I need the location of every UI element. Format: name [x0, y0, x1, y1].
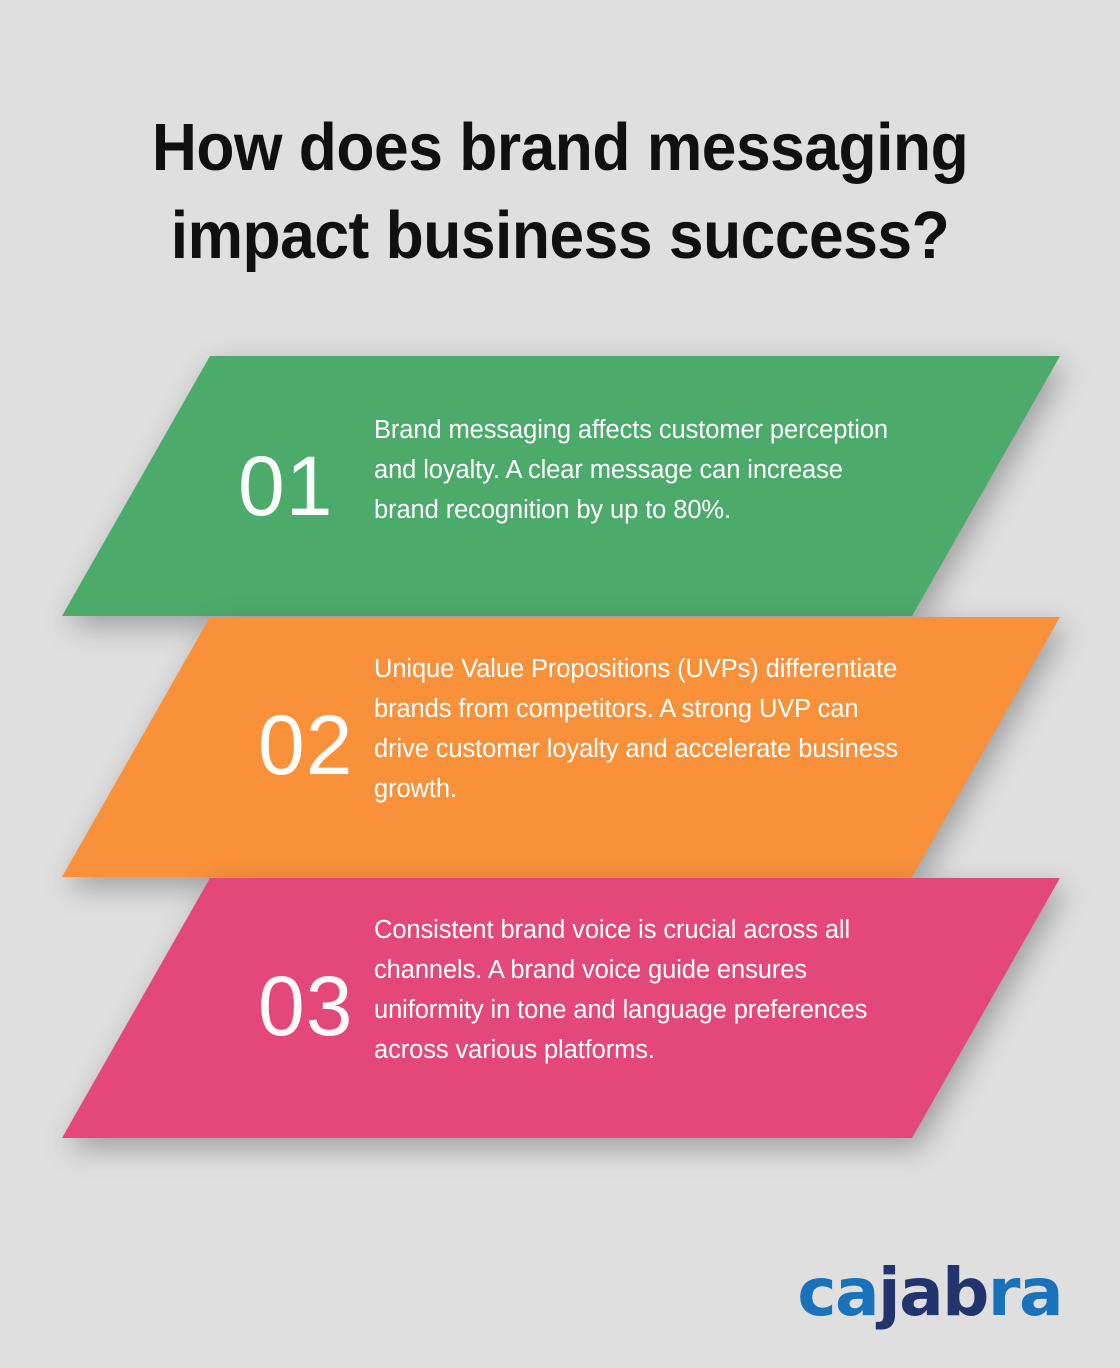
band-content-03: 03 Consistent brand voice is crucial acr… [0, 878, 1120, 1140]
item-text-02: Unique Value Propositions (UVPs) differe… [374, 649, 904, 809]
band-list: 01 Brand messaging affects customer perc… [0, 0, 1120, 1368]
infographic-canvas: How does brand messaging impact business… [0, 0, 1120, 1368]
logo-part-1: ca [797, 1254, 878, 1331]
band-content-01: 01 Brand messaging affects customer perc… [0, 356, 1120, 618]
logo-part-2: jab [878, 1254, 988, 1331]
item-number-02: 02 [258, 703, 353, 787]
list-item-01: 01 Brand messaging affects customer perc… [0, 356, 1120, 618]
item-number-01: 01 [238, 444, 333, 528]
band-content-02: 02 Unique Value Propositions (UVPs) diff… [0, 617, 1120, 879]
list-item-02: 02 Unique Value Propositions (UVPs) diff… [0, 617, 1120, 879]
item-number-03: 03 [258, 964, 353, 1048]
logo-part-3: ra [988, 1254, 1062, 1331]
list-item-03: 03 Consistent brand voice is crucial acr… [0, 878, 1120, 1140]
cajabra-logo: cajabra [797, 1258, 1062, 1328]
item-text-03: Consistent brand voice is crucial across… [374, 910, 904, 1070]
item-text-01: Brand messaging affects customer percept… [374, 410, 904, 530]
